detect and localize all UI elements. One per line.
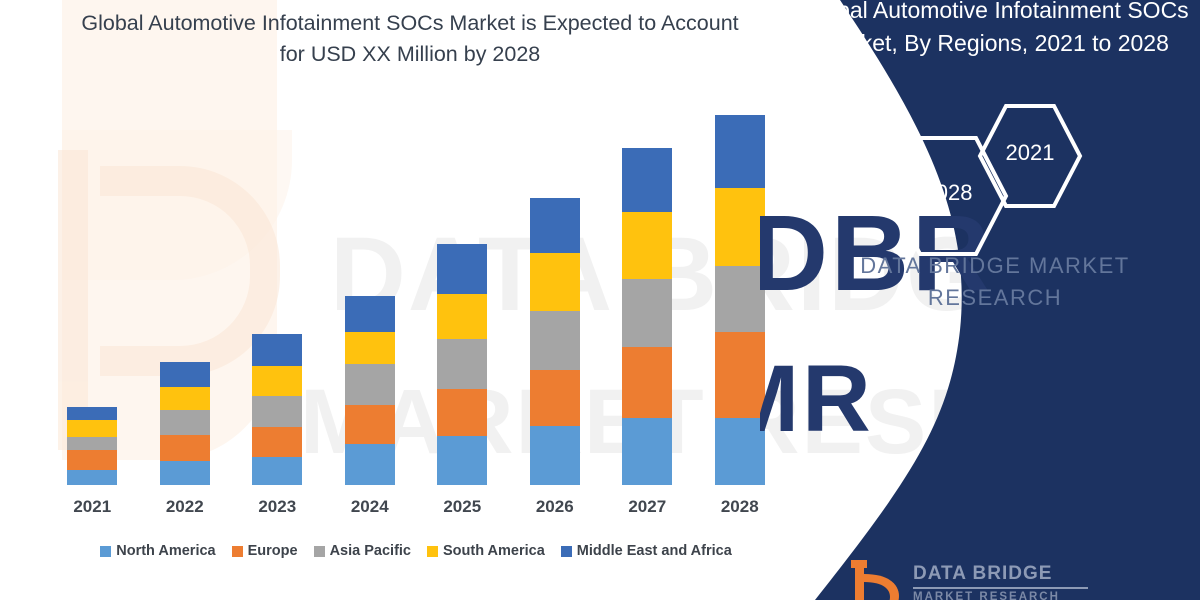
bar-segment-asia-pacific xyxy=(160,410,210,435)
bar-segment-middle-east-and-africa xyxy=(160,362,210,387)
bar-segment-europe xyxy=(252,427,302,457)
legend-swatch-icon xyxy=(100,546,111,557)
x-axis-tick-2022: 2022 xyxy=(140,497,230,517)
bar-segment-north-america xyxy=(622,418,672,485)
legend-label: North America xyxy=(116,543,215,559)
bar-segment-europe xyxy=(715,332,765,418)
company-logo: DATA BRIDGE MARKET RESEARCH xyxy=(845,548,1105,600)
right-side-panel: DBR MR Global Automotive Infotainment SO… xyxy=(760,0,1200,600)
legend-label: Europe xyxy=(248,543,298,559)
bar-segment-asia-pacific xyxy=(715,266,765,332)
x-axis-tick-2023: 2023 xyxy=(232,497,322,517)
bar-segment-asia-pacific xyxy=(437,339,487,389)
bar-segment-north-america xyxy=(67,470,117,485)
bar-segment-north-america xyxy=(345,444,395,485)
bar-segment-south-america xyxy=(530,253,580,311)
chart-legend: North AmericaEuropeAsia PacificSouth Ame… xyxy=(46,538,786,564)
logo-text-block: DATA BRIDGE MARKET RESEARCH xyxy=(913,563,1088,600)
bar-segment-europe xyxy=(530,370,580,427)
bar-segment-south-america xyxy=(622,212,672,278)
bar-segment-middle-east-and-africa xyxy=(252,334,302,366)
stacked-bar xyxy=(160,362,210,485)
bar-segment-europe xyxy=(160,435,210,462)
bar-segment-middle-east-and-africa xyxy=(67,407,117,420)
bar-segment-north-america xyxy=(715,418,765,485)
bar-segment-south-america xyxy=(252,366,302,396)
bar-segment-north-america xyxy=(437,436,487,485)
bar-column-2021 xyxy=(47,100,137,485)
panel-watermark-2: MR xyxy=(760,345,874,454)
stacked-bar xyxy=(715,115,765,485)
chart-title: Global Automotive Infotainment SOCs Mark… xyxy=(80,8,740,69)
stacked-bar xyxy=(437,244,487,485)
stacked-bar xyxy=(622,148,672,485)
legend-item-europe[interactable]: Europe xyxy=(232,543,298,559)
bar-segment-south-america xyxy=(160,387,210,411)
logo-text-line2: MARKET RESEARCH xyxy=(913,591,1088,600)
bridge-logo-icon xyxy=(845,556,901,600)
legend-swatch-icon xyxy=(561,546,572,557)
stacked-bar xyxy=(345,296,395,485)
bar-segment-middle-east-and-africa xyxy=(622,148,672,212)
bar-segment-asia-pacific xyxy=(622,279,672,347)
x-axis-tick-2026: 2026 xyxy=(510,497,600,517)
legend-label: Middle East and Africa xyxy=(577,543,732,559)
bar-column-2023 xyxy=(232,100,322,485)
hexagon-badge-2028: 2028 xyxy=(878,132,1018,265)
stacked-bar xyxy=(252,334,302,485)
bar-group xyxy=(46,100,786,485)
bar-segment-asia-pacific xyxy=(252,396,302,427)
panel-title: Global Automotive Infotainment SOCs Mark… xyxy=(800,0,1190,61)
legend-item-asia-pacific[interactable]: Asia Pacific xyxy=(314,543,411,559)
bar-segment-europe xyxy=(622,347,672,418)
logo-divider xyxy=(913,587,1088,589)
x-axis-tick-2024: 2024 xyxy=(325,497,415,517)
bar-segment-south-america xyxy=(437,294,487,339)
bar-segment-middle-east-and-africa xyxy=(715,115,765,188)
bar-segment-asia-pacific xyxy=(67,437,117,450)
bar-segment-asia-pacific xyxy=(530,311,580,370)
bar-column-2025 xyxy=(417,100,507,485)
bar-column-2024 xyxy=(325,100,415,485)
legend-item-north-america[interactable]: North America xyxy=(100,543,215,559)
bar-column-2026 xyxy=(510,100,600,485)
logo-text-line1: DATA BRIDGE xyxy=(913,563,1088,585)
bar-segment-north-america xyxy=(160,461,210,485)
legend-item-middle-east-and-africa[interactable]: Middle East and Africa xyxy=(561,543,732,559)
navy-panel-content: DBR MR Global Automotive Infotainment SO… xyxy=(760,0,1200,600)
stacked-bar xyxy=(530,198,580,485)
bar-segment-asia-pacific xyxy=(345,364,395,405)
stacked-bar xyxy=(67,407,117,485)
bar-segment-south-america xyxy=(715,188,765,266)
legend-swatch-icon xyxy=(427,546,438,557)
panel-brand-text: DATA BRIDGE MARKET RESEARCH xyxy=(800,250,1190,314)
hexagon-badges: 2021 2028 xyxy=(860,100,1160,240)
hexagon-label-2028: 2028 xyxy=(878,180,1018,206)
chart-plot-area xyxy=(46,100,786,485)
bar-segment-north-america xyxy=(530,426,580,485)
bar-segment-north-america xyxy=(252,457,302,485)
bar-column-2022 xyxy=(140,100,230,485)
bar-segment-europe xyxy=(345,405,395,445)
legend-label: Asia Pacific xyxy=(330,543,411,559)
bar-column-2027 xyxy=(602,100,692,485)
bar-segment-middle-east-and-africa xyxy=(530,198,580,253)
bar-segment-europe xyxy=(437,389,487,436)
legend-swatch-icon xyxy=(314,546,325,557)
legend-swatch-icon xyxy=(232,546,243,557)
x-axis-labels: 20212022202320242025202620272028 xyxy=(46,492,786,522)
legend-label: South America xyxy=(443,543,545,559)
legend-item-south-america[interactable]: South America xyxy=(427,543,545,559)
infographic-canvas: DATA BRIDGE MARKET RESEARCH Global Autom… xyxy=(0,0,1200,600)
x-axis-tick-2025: 2025 xyxy=(417,497,507,517)
bar-segment-europe xyxy=(67,450,117,470)
bar-segment-south-america xyxy=(67,420,117,437)
x-axis-tick-2027: 2027 xyxy=(602,497,692,517)
bar-segment-south-america xyxy=(345,332,395,364)
bar-segment-middle-east-and-africa xyxy=(345,296,395,332)
bar-segment-middle-east-and-africa xyxy=(437,244,487,293)
x-axis-tick-2021: 2021 xyxy=(47,497,137,517)
